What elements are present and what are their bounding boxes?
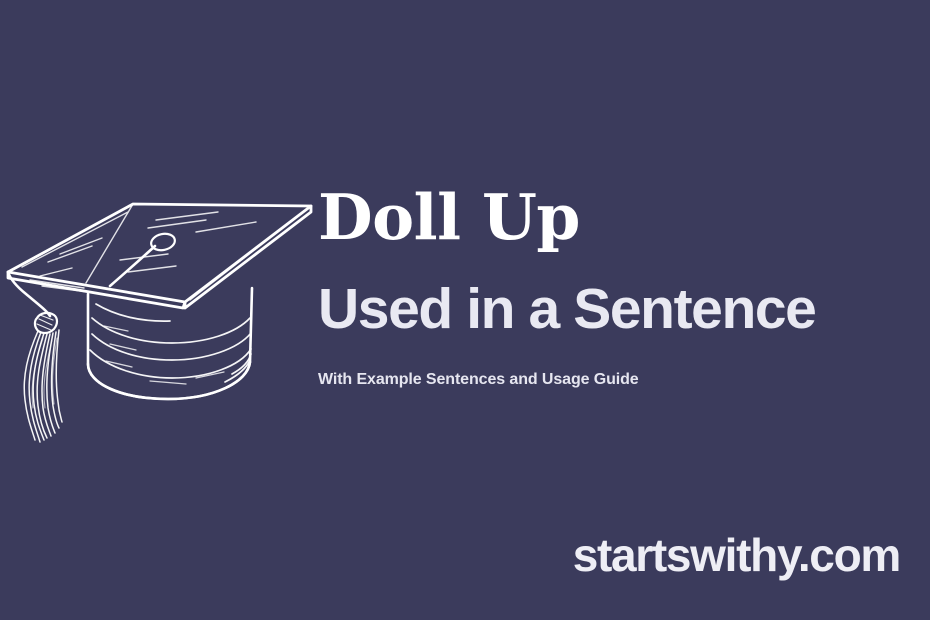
tagline-text: With Example Sentences and Usage Guide xyxy=(318,338,918,388)
page-subtitle: Used in a Sentence xyxy=(318,249,918,338)
brand-watermark: startswithy.com xyxy=(573,528,900,582)
poster-canvas: Doll Up Used in a Sentence With Example … xyxy=(0,0,930,620)
headline-block: Doll Up Used in a Sentence With Example … xyxy=(318,186,918,388)
page-title-term: Doll Up xyxy=(318,186,918,249)
graduation-cap-icon xyxy=(0,168,320,453)
